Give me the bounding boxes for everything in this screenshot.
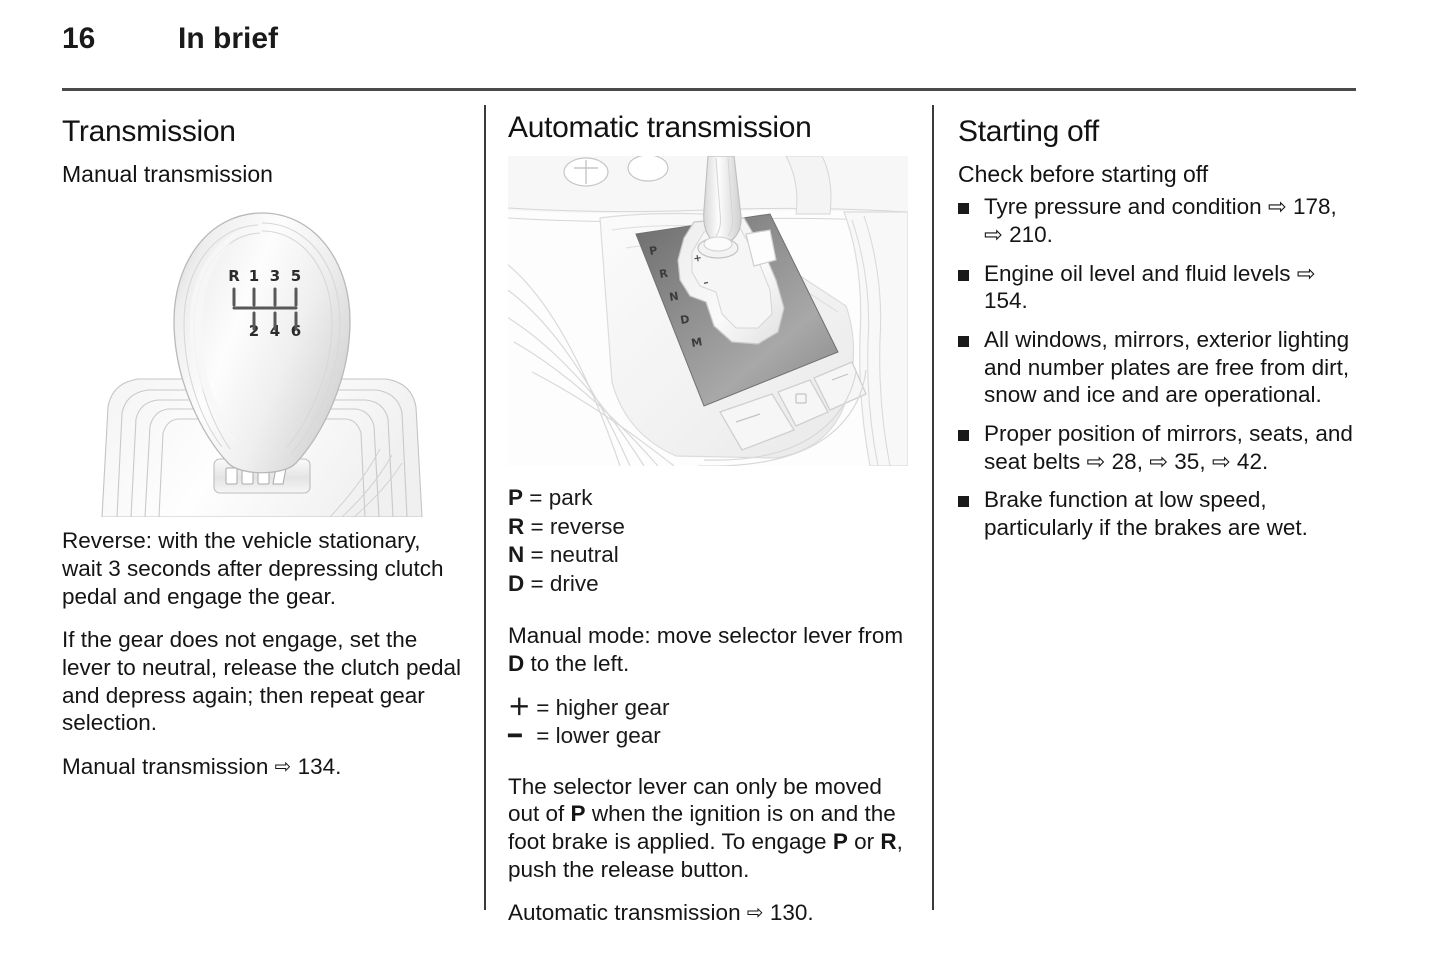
- reference-page: 134.: [298, 754, 342, 779]
- symbol-value: lower gear: [556, 723, 661, 748]
- subsection-title-manual-transmission: Manual transmission: [62, 161, 462, 187]
- square-bullet-icon: [958, 496, 969, 507]
- svg-text:M: M: [690, 335, 703, 350]
- note-bold-p: P: [571, 801, 586, 826]
- definition-value: drive: [550, 571, 599, 596]
- definition-equals: =: [531, 542, 544, 567]
- svg-text:R: R: [228, 267, 240, 285]
- minus-symbol-icon: ━: [508, 722, 530, 751]
- page-columns: Transmission Manual transmission: [0, 105, 1445, 915]
- chapter-title: In brief: [178, 22, 278, 56]
- symbol-row: ＋ = higher gear: [508, 694, 908, 723]
- page-reference-arrow-icon: ⇨: [747, 900, 764, 925]
- column-transmission: Transmission Manual transmission: [62, 105, 462, 781]
- list-item-text: All windows, mirrors, exterior lighting …: [984, 327, 1349, 407]
- list-item: Proper position of mirrors, seats, and s…: [958, 420, 1358, 475]
- list-item: Engine oil level and fluid levels ⇨ 154.: [958, 260, 1358, 315]
- definition-key: R: [508, 514, 524, 539]
- definition-key: N: [508, 542, 524, 567]
- definition-row: R = reverse: [508, 513, 908, 542]
- list-item: Tyre pressure and condition ⇨ 178, ⇨ 210…: [958, 193, 1358, 248]
- square-bullet-icon: [958, 430, 969, 441]
- page-reference-arrow-icon: ⇨: [275, 754, 292, 779]
- manual-mode-symbol-list: ＋ = higher gear ━ = lower gear: [508, 694, 908, 751]
- definition-equals: =: [531, 514, 544, 539]
- square-bullet-icon: [958, 270, 969, 281]
- page-number: 16: [62, 22, 95, 56]
- manual-mode-paragraph: Manual mode: move selector lever from D …: [508, 622, 908, 677]
- manual-transmission-reference: Manual transmission ⇨ 134.: [62, 753, 462, 781]
- list-item-text: Tyre pressure and condition ⇨ 178, ⇨ 210…: [984, 194, 1337, 247]
- definition-row: D = drive: [508, 570, 908, 599]
- list-item: All windows, mirrors, exterior lighting …: [958, 326, 1358, 409]
- note-bold-r: R: [880, 829, 896, 854]
- square-bullet-icon: [958, 203, 969, 214]
- reference-label: Automatic transmission: [508, 900, 741, 925]
- section-title-automatic-transmission: Automatic transmission: [508, 111, 908, 144]
- square-bullet-icon: [958, 336, 969, 347]
- manual-mode-text-after: to the left.: [524, 651, 629, 676]
- manual-mode-text-before: Manual mode: move selector lever from: [508, 623, 903, 648]
- definition-equals: =: [529, 485, 542, 510]
- manual-mode-gear-key: D: [508, 651, 524, 676]
- manual-transmission-paragraph-2: If the gear does not engage, set the lev…: [62, 626, 462, 737]
- page-header: 16 In brief: [62, 22, 1356, 84]
- definition-key: D: [508, 571, 524, 596]
- definition-equals: =: [531, 571, 544, 596]
- manual-gear-knob-illustration: R 1 3 5 2 4 6: [62, 197, 462, 517]
- manual-transmission-paragraph-1: Reverse: with the vehicle stationary, wa…: [62, 527, 462, 610]
- symbol-value: higher gear: [556, 695, 670, 720]
- reference-label: Manual transmission: [62, 754, 268, 779]
- note-part-3: or: [848, 829, 881, 854]
- definition-value: reverse: [550, 514, 625, 539]
- automatic-selector-lever-console-photo: P R N D M + –: [508, 156, 908, 466]
- note-bold-p-2: P: [833, 829, 848, 854]
- reference-page: 130.: [770, 900, 814, 925]
- definition-value: neutral: [550, 542, 619, 567]
- definition-row: P = park: [508, 484, 908, 513]
- section-title-transmission: Transmission: [62, 115, 462, 148]
- column-automatic-transmission: Automatic transmission: [508, 105, 908, 927]
- section-title-starting-off: Starting off: [958, 115, 1358, 148]
- column-starting-off: Starting off Check before starting off T…: [958, 105, 1358, 542]
- column-divider-left: [484, 105, 486, 910]
- column-divider-right: [932, 105, 934, 910]
- svg-text:3: 3: [270, 267, 280, 285]
- selector-position-definitions: P = park R = reverse N = neutral D = dri…: [508, 484, 908, 598]
- list-item-text: Proper position of mirrors, seats, and s…: [984, 421, 1353, 474]
- svg-text:1: 1: [249, 267, 259, 285]
- list-item-text: Engine oil level and fluid levels ⇨ 154.: [984, 261, 1316, 314]
- svg-text:5: 5: [291, 267, 301, 285]
- list-item: Brake function at low speed, particularl…: [958, 486, 1358, 541]
- plus-symbol-icon: ＋: [508, 694, 530, 723]
- definition-value: park: [549, 485, 593, 510]
- definition-row: N = neutral: [508, 541, 908, 570]
- definition-key: P: [508, 485, 523, 510]
- automatic-transmission-reference: Automatic transmission ⇨ 130.: [508, 899, 908, 927]
- symbol-equals: =: [536, 723, 549, 748]
- subsection-title-check-before-starting-off: Check before starting off: [958, 161, 1358, 187]
- symbol-equals: =: [536, 695, 549, 720]
- selector-lever-note: The selector lever can only be moved out…: [508, 773, 908, 884]
- symbol-row: ━ = lower gear: [508, 722, 908, 751]
- list-item-text: Brake function at low speed, particularl…: [984, 487, 1308, 540]
- header-divider-rule: [62, 88, 1356, 91]
- starting-off-checklist: Tyre pressure and condition ⇨ 178, ⇨ 210…: [958, 193, 1358, 541]
